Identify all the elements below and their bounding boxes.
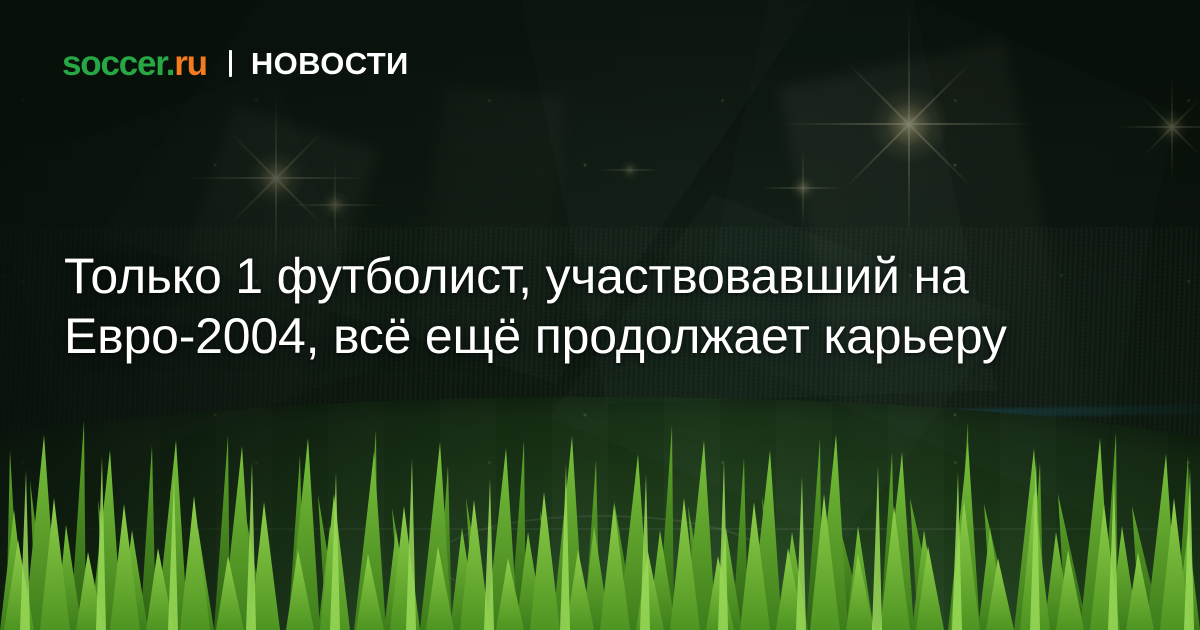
logo-text-dot: . <box>166 44 175 83</box>
logo-text-ru: ru <box>174 44 207 83</box>
header-separator <box>229 50 232 77</box>
logo-text-soccer: soccer <box>62 44 166 83</box>
page-title: Только 1 футболист, участвовавший на Евр… <box>64 246 1134 366</box>
section-label-news: НОВОСТИ <box>251 48 409 79</box>
soccer-ru-logo[interactable]: soccer.ru <box>62 46 207 81</box>
og-share-card: soccer.ru НОВОСТИ Только 1 футболист, уч… <box>0 0 1200 630</box>
site-header: soccer.ru НОВОСТИ <box>62 46 409 81</box>
